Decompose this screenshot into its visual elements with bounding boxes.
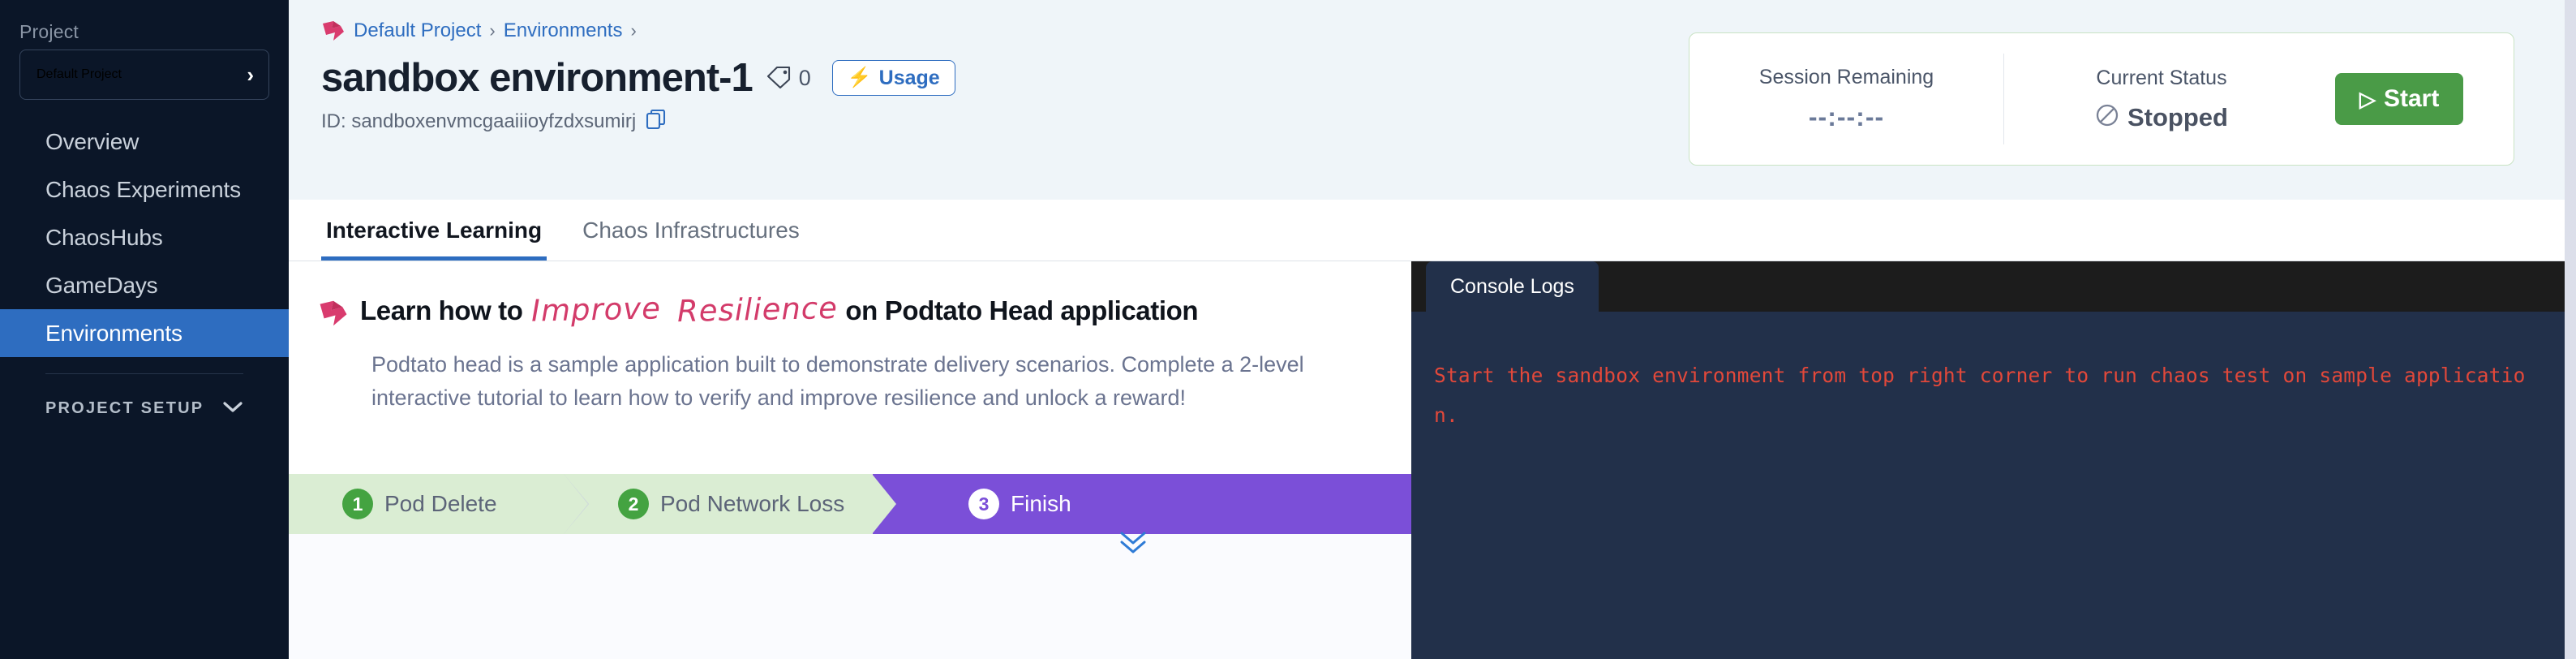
session-remaining-caption: Session Remaining [1759, 66, 1934, 89]
breadcrumb-separator: › [489, 20, 495, 41]
sidebar-item-label: Chaos Experiments [45, 177, 241, 203]
tag-count: 0 [799, 66, 811, 91]
environment-id-text: ID: sandboxenvmcgaaiiioyfzdxsumirj [321, 110, 636, 133]
tab-label: Interactive Learning [326, 218, 542, 243]
chevron-down-icon [222, 398, 243, 419]
session-remaining-value: --:--:-- [1809, 102, 1884, 132]
sidebar-item-label: Overview [45, 129, 139, 155]
tag-indicator: 0 [766, 64, 811, 93]
tab-label: Chaos Infrastructures [582, 218, 800, 243]
session-remaining-block: Session Remaining --:--:-- [1689, 54, 2004, 144]
usage-button[interactable]: ⚡ Usage [832, 60, 955, 96]
learning-title-resilience: Resilience [668, 291, 846, 329]
page-header: Default Project › Environments › sandbox… [289, 0, 2576, 200]
sidebar-item-overview[interactable]: Overview [0, 118, 289, 166]
sidebar-item-gamedays[interactable]: GameDays [0, 261, 289, 309]
status-badge-label: Stopped [2127, 103, 2228, 132]
content-body: Learn how to ImproveResilience on Podtat… [289, 261, 2576, 659]
sidebar-section-label: Project [0, 21, 289, 50]
step-number-badge: 1 [342, 489, 373, 519]
tab-console-logs[interactable]: Console Logs [1426, 261, 1599, 312]
console-tab-label: Console Logs [1450, 275, 1574, 299]
interactive-learning-pane: Learn how to ImproveResilience on Podtat… [289, 261, 1411, 659]
play-icon: ▷ [2359, 88, 2376, 110]
step-number-badge: 2 [618, 489, 649, 519]
sidebar: Project Default Project › Overview Chaos… [0, 0, 289, 659]
console-output[interactable]: Start the sandbox environment from top r… [1411, 312, 2576, 659]
tab-bar: Interactive Learning Chaos Infrastructur… [289, 200, 2576, 261]
console-pane: Console Logs Start the sandbox environme… [1411, 261, 2576, 659]
step-pod-network-loss[interactable]: 2 Pod Network Loss [565, 474, 873, 534]
console-log-line: Start the sandbox environment from top r… [1434, 355, 2540, 435]
collapse-chevron-icon[interactable] [1114, 532, 1153, 563]
sidebar-project-setup-label: PROJECT SETUP [45, 399, 204, 418]
project-selector-name: Default Project [36, 67, 122, 82]
breadcrumb-separator-trailing: › [630, 20, 636, 41]
tutorial-steps: 1 Pod Delete 2 Pod Network Loss 3 Finish [289, 474, 1411, 534]
status-badge: Stopped [2095, 103, 2228, 132]
sidebar-item-chaoshubs[interactable]: ChaosHubs [0, 213, 289, 261]
tag-icon [766, 64, 793, 93]
page-scrollbar[interactable] [2565, 0, 2576, 659]
learning-title-part-4: on Podtato Head application [845, 295, 1198, 326]
current-status-caption: Current Status [2096, 67, 2226, 90]
step-number-badge: 3 [968, 489, 999, 519]
start-button-label: Start [2384, 85, 2439, 113]
session-card: Session Remaining --:--:-- Current Statu… [1689, 32, 2514, 166]
project-selector[interactable]: Default Project › [19, 50, 269, 100]
learning-description: Podtato head is a sample application bui… [371, 348, 1374, 415]
page-title: sandbox environment-1 [321, 55, 753, 101]
lightning-bolt-icon: ⚡ [848, 68, 872, 88]
chevron-right-icon: › [247, 64, 254, 85]
step-label: Pod Delete [384, 491, 497, 517]
harness-logo-icon [318, 299, 342, 321]
sidebar-item-label: ChaosHubs [45, 225, 163, 251]
breadcrumb-link-project[interactable]: Default Project [354, 19, 481, 42]
learning-title-part-1: Learn how to [360, 295, 523, 326]
start-button[interactable]: ▷ Start [2335, 73, 2463, 125]
sidebar-item-environments[interactable]: Environments [0, 309, 289, 357]
tab-chaos-infrastructures[interactable]: Chaos Infrastructures [577, 200, 805, 261]
main-region: Default Project › Environments › sandbox… [289, 0, 2576, 659]
tab-interactive-learning[interactable]: Interactive Learning [321, 200, 547, 261]
learning-heading-row: Learn how to ImproveResilience on Podtat… [318, 292, 1374, 327]
sidebar-project-setup[interactable]: PROJECT SETUP [0, 392, 289, 424]
stopped-icon [2095, 103, 2119, 131]
steps-lower-area [289, 534, 1411, 659]
step-pod-delete[interactable]: 1 Pod Delete [289, 474, 565, 534]
step-finish[interactable]: 3 Finish [873, 474, 1411, 534]
learning-title: Learn how to ImproveResilience on Podtat… [360, 292, 1198, 327]
sidebar-divider [45, 373, 243, 374]
sidebar-item-chaos-experiments[interactable]: Chaos Experiments [0, 166, 289, 213]
step-label: Pod Network Loss [660, 491, 844, 517]
sidebar-nav: Overview Chaos Experiments ChaosHubs Gam… [0, 118, 289, 357]
copy-icon[interactable] [646, 109, 667, 134]
learning-title-improve: Improve [522, 291, 669, 329]
current-status-block: Current Status Stopped [2004, 54, 2319, 144]
step-label: Finish [1011, 491, 1071, 517]
usage-button-label: Usage [879, 67, 940, 90]
app-root: Project Default Project › Overview Chaos… [0, 0, 2576, 659]
breadcrumb-link-environments[interactable]: Environments [504, 19, 623, 42]
sidebar-item-label: Environments [45, 321, 182, 347]
harness-logo-icon [321, 19, 346, 42]
sidebar-item-label: GameDays [45, 273, 157, 299]
console-tab-strip: Console Logs [1411, 261, 2576, 312]
